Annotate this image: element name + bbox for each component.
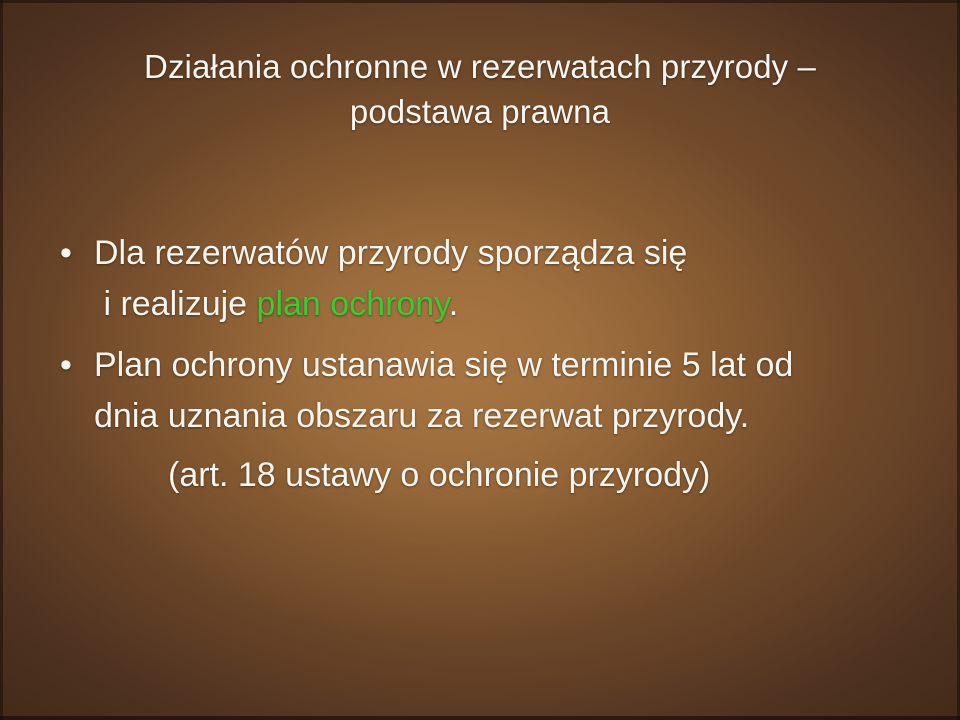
slide-body: • Dla rezerwatów przyrody sporządza się … [48, 228, 924, 501]
bullet-item-1-line-2-suffix: . [449, 285, 458, 323]
bullet-item-2-line-2: dnia uznania obszaru za rezerwat przyrod… [94, 391, 924, 442]
slide-edge-left [0, 0, 3, 720]
legal-citation: (art. 18 ustawy o ochronie przyrody) [48, 450, 924, 501]
bullet-item-2-line-1: Plan ochrony ustanawia się w terminie 5 … [94, 340, 924, 391]
presentation-slide: Działania ochronne w rezerwatach przyrod… [0, 0, 960, 720]
slide-edge-top [0, 0, 960, 3]
slide-title: Działania ochronne w rezerwatach przyrod… [60, 44, 900, 134]
bullet-item-1-line-1: Dla rezerwatów przyrody sporządza się [94, 228, 924, 279]
bullet-item-1-line-2: i realizuje plan ochrony. [94, 279, 924, 330]
bullet-item-2-text: Plan ochrony ustanawia się w terminie 5 … [94, 340, 924, 442]
bullet-item-1-line-2-prefix: i realizuje [94, 285, 257, 323]
bullet-point-icon: • [48, 340, 94, 391]
highlight-plan-ochrony: plan ochrony [257, 285, 449, 323]
bullet-item-2: • Plan ochrony ustanawia się w terminie … [48, 340, 924, 442]
slide-title-line-1: Działania ochronne w rezerwatach przyrod… [60, 44, 900, 89]
bullet-item-1: • Dla rezerwatów przyrody sporządza się … [48, 228, 924, 330]
bullet-point-icon: • [48, 228, 94, 279]
slide-edge-bottom [0, 716, 960, 720]
slide-title-line-2: podstawa prawna [60, 89, 900, 134]
bullet-item-1-text: Dla rezerwatów przyrody sporządza się i … [94, 228, 924, 330]
